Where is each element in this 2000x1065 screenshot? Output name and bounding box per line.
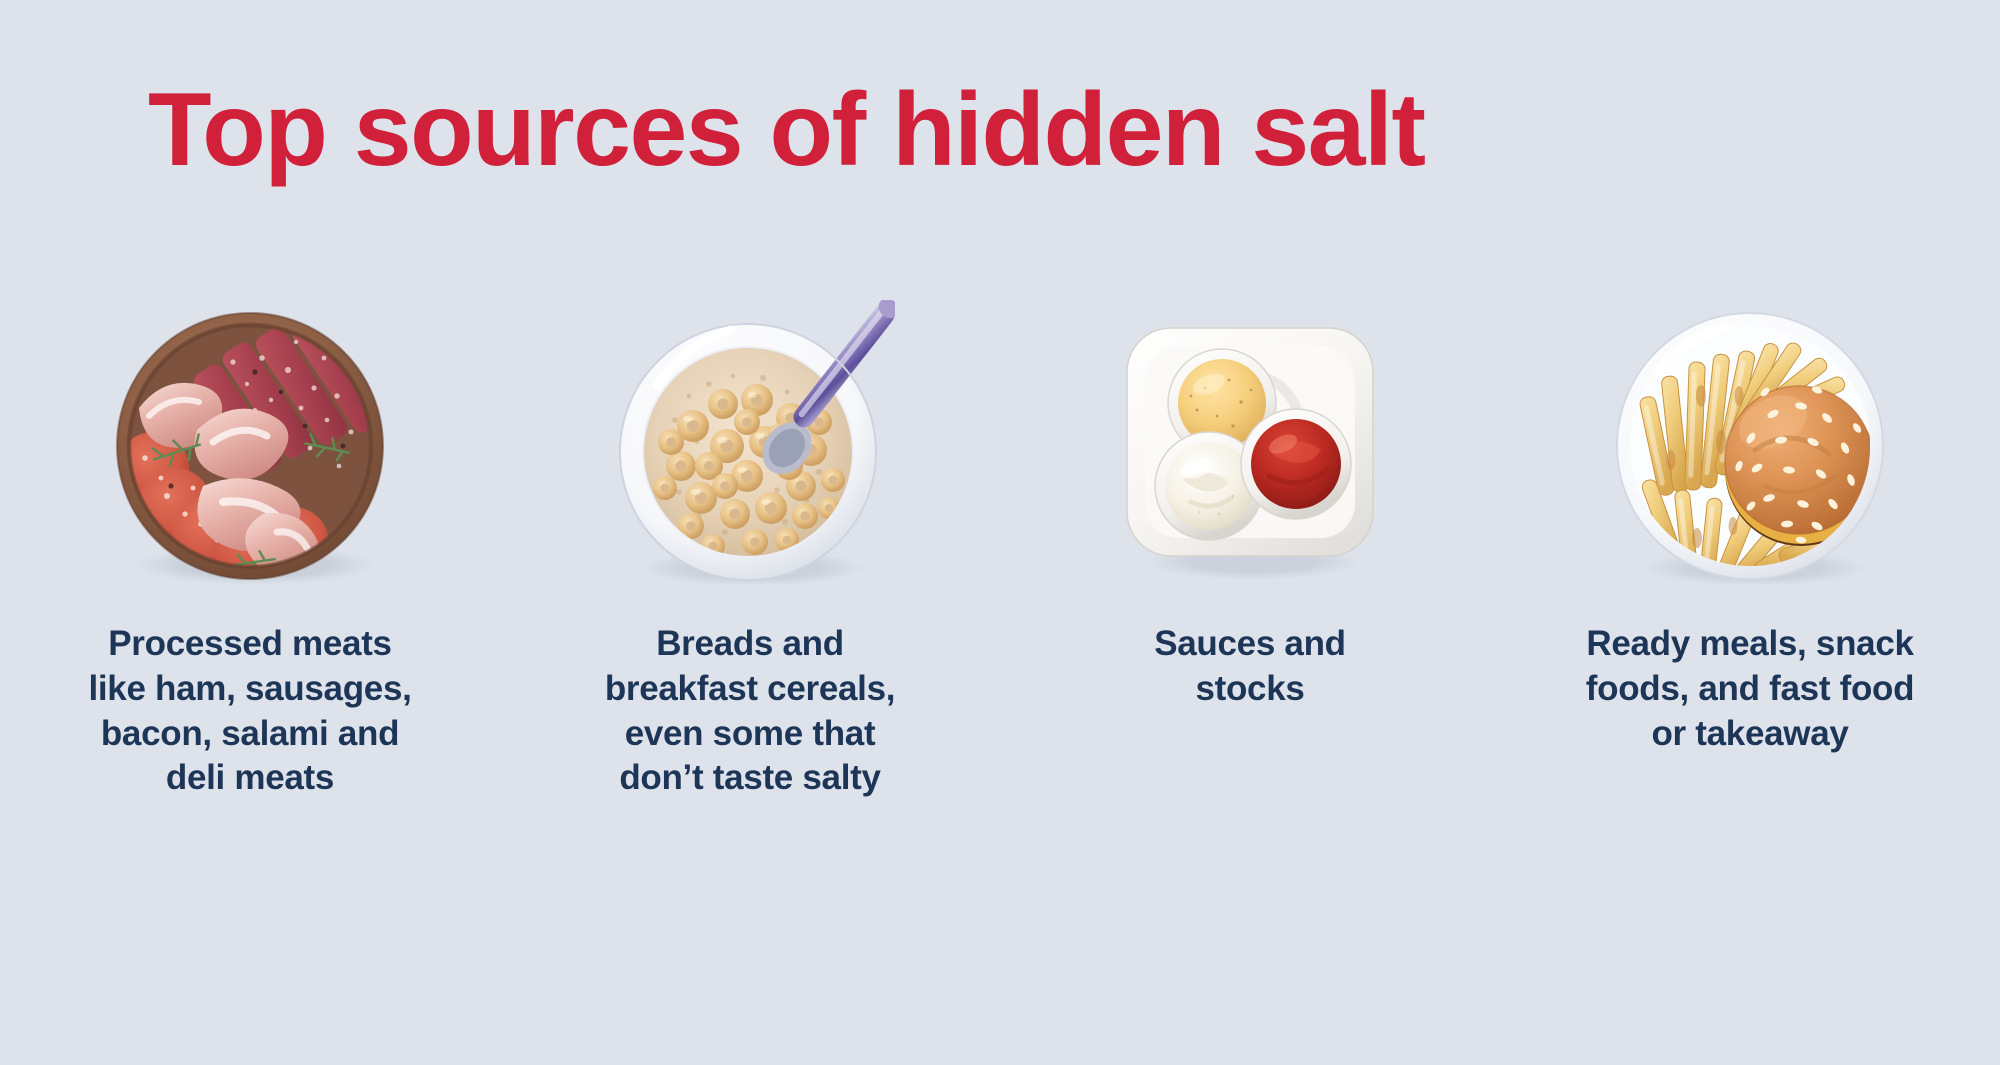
food-source-caption: Ready meals, snack foods, and fast food … [1550,622,1950,756]
breakfast-cereal-bowl [600,300,900,590]
food-source-columns: Processed meats like ham, sausages, baco… [0,300,2000,1000]
ketchup-ramekin [1241,409,1351,519]
food-source-item: Breads and breakfast cereals, even some … [500,300,1000,801]
processed-meats-platter [100,300,400,590]
cereal-bowl-illustration [605,300,895,590]
food-source-caption: Sauces and stocks [1085,622,1415,712]
processed-meats-illustration [105,300,395,590]
burger-and-fries-plate [1600,300,1900,590]
sauces-ramekins-plate [1100,300,1400,590]
food-source-item: Ready meals, snack foods, and fast food … [1500,300,2000,756]
infographic-canvas: Top sources of hidden salt [0,0,2000,1065]
food-source-caption: Processed meats like ham, sausages, baco… [50,622,450,801]
food-source-item: Sauces and stocks [1000,300,1500,712]
sauces-illustration [1105,300,1395,590]
food-source-item: Processed meats like ham, sausages, baco… [0,300,500,801]
burger-fries-illustration [1605,300,1895,590]
page-title: Top sources of hidden salt [148,78,1908,182]
food-source-caption: Breads and breakfast cereals, even some … [555,622,945,801]
